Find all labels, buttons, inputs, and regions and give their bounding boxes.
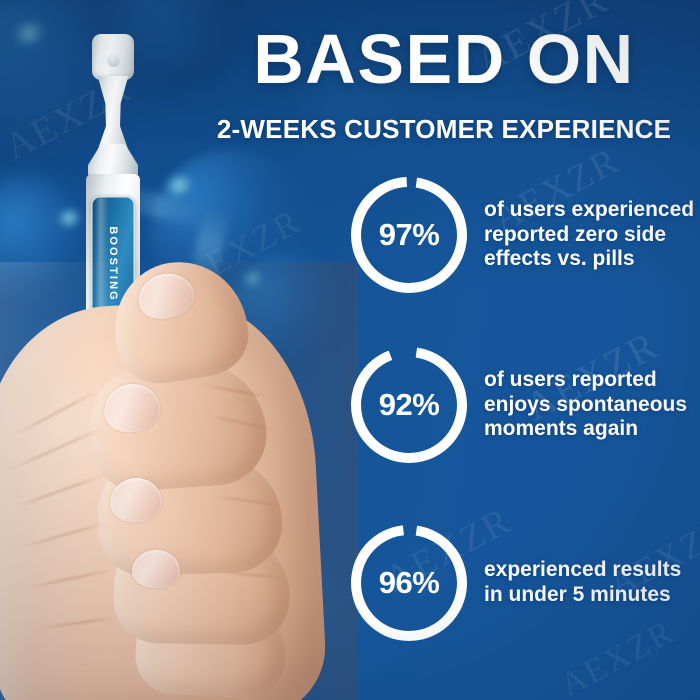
ampoule-neck bbox=[97, 76, 129, 152]
hand-holding-icon bbox=[0, 262, 358, 700]
ampoule-cap-icon bbox=[92, 34, 134, 80]
stat-value: 96% bbox=[350, 524, 468, 642]
progress-ring: 97% bbox=[350, 176, 468, 294]
stat-row: 97%of users experienced reported zero si… bbox=[350, 176, 700, 294]
product-photo: BOOSTING AMPOULES bbox=[0, 0, 360, 700]
page-subtitle: 2-WEEKS CUSTOMER EXPERIENCE bbox=[194, 114, 694, 145]
ampoule-cap-dot-icon bbox=[107, 54, 120, 67]
ampoule-shoulder bbox=[88, 144, 138, 178]
stat-description: of users experienced reported zero side … bbox=[484, 198, 700, 272]
stat-description: of users reported enjoys spontaneous mom… bbox=[484, 368, 700, 442]
stat-value: 97% bbox=[350, 176, 468, 294]
progress-ring: 92% bbox=[350, 346, 468, 464]
stat-value: 92% bbox=[350, 346, 468, 464]
stat-description: experienced results in under 5 minutes bbox=[484, 558, 700, 607]
fingernail bbox=[132, 550, 180, 588]
progress-ring: 96% bbox=[350, 524, 468, 642]
page-title: BASED ON bbox=[198, 26, 690, 93]
stat-row: 96%experienced results in under 5 minute… bbox=[350, 524, 700, 642]
stat-row: 92%of users reported enjoys spontaneous … bbox=[350, 346, 700, 464]
infographic-poster: AEXZRAEXZRAEXZRAEXZRAEXZRAEXZRAEXZRAEXZR… bbox=[0, 0, 700, 700]
